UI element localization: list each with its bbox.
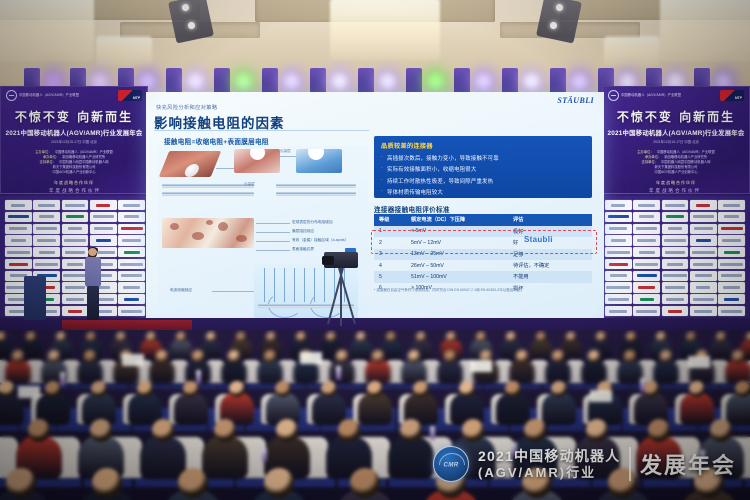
speaker-torso <box>85 257 101 287</box>
table-caption: 连接器接触电阻评价标准 <box>374 204 450 214</box>
audience-member <box>542 392 576 425</box>
audience-head <box>350 468 380 498</box>
audience-head <box>524 419 546 441</box>
sponsor-logo-tile <box>33 247 60 257</box>
sponsor-logo-tile <box>33 224 60 234</box>
diagram-label: 污染层 <box>280 149 291 154</box>
sponsor-logo-tile <box>690 224 717 234</box>
audience-head <box>716 332 727 342</box>
sponsor-logo-tile <box>605 224 632 234</box>
alliance-logo-text: 中国移动机器人（AGV/AMR）产业联盟 <box>621 94 681 98</box>
audience-head <box>586 419 608 441</box>
sponsor-logo-tile <box>718 271 745 281</box>
sponsor-logo-tile <box>690 306 717 316</box>
cell-voltage: 13mV – 25mV <box>406 249 508 260</box>
banner-title: 2021中国移动机器人(AGV/AMR)行业发展年会 <box>603 128 749 137</box>
sponsor-logo-tile <box>662 235 689 245</box>
sponsor-logo-tile <box>605 294 632 304</box>
audience-head <box>356 332 367 342</box>
sponsor-logo-tile <box>118 282 145 292</box>
sponsor-logo-wall-left <box>0 196 150 331</box>
bullet-marker: · <box>381 188 383 196</box>
water-bottle <box>262 448 267 462</box>
cell-grade: 2 <box>374 237 406 248</box>
audience-head <box>686 332 697 342</box>
audience-head <box>264 350 276 363</box>
col-header-voltage-drop: 额定电流（DC）下压降 <box>406 214 508 226</box>
audience-member <box>726 392 750 425</box>
audience-head <box>626 332 637 342</box>
sponsor-logo-tile <box>718 247 745 257</box>
sponsor-logo-tile <box>718 235 745 245</box>
audience-member <box>358 392 392 425</box>
bullet-marker: · <box>381 165 383 173</box>
audience-head <box>338 419 360 441</box>
video-camera <box>324 252 358 268</box>
sponsor-logo-tile <box>718 212 745 222</box>
info-bullet: 实际有效接触面积小，收缩电阻很大 <box>387 165 476 173</box>
sponsor-logo-tile <box>662 259 689 269</box>
sponsor-logo-tile <box>605 306 632 316</box>
slide-eyebrow: 快充风险分析和应对策略 <box>156 104 217 111</box>
sponsor-logo-tile <box>118 235 145 245</box>
diagram-label: 污染层 <box>244 182 255 187</box>
audience-head <box>84 350 96 363</box>
audience-head <box>536 332 547 342</box>
sponsor-logo-tile <box>633 212 660 222</box>
sponsor-logo-tile <box>605 271 632 281</box>
sponsor-logo-tile <box>5 212 32 222</box>
audience-member <box>312 392 346 425</box>
sponsor-logo-tile <box>605 247 632 257</box>
bullet-marker: · <box>381 177 383 185</box>
watermark-headline: 发展年会 <box>640 448 736 480</box>
alliance-logo-text: 中国移动机器人（AGV/AMR）产业联盟 <box>19 94 79 98</box>
sponsor-logo-tile <box>718 224 745 234</box>
cell-assessment: 足够 <box>508 249 592 260</box>
alliance-ring-icon <box>6 90 17 101</box>
sponsor-logo-tile <box>62 200 89 210</box>
contact-plate-illustration <box>159 151 222 177</box>
event-banner-left: 中国移动机器人（AGV/AMR）产业联盟 MTP 不惊不变 向新而生 2021中… <box>0 86 148 194</box>
audience-head <box>624 350 636 363</box>
cell-grade: 1 <box>374 226 406 237</box>
audience-head <box>90 419 112 441</box>
banner-date: 2021年12月15-17日 中国·北京 <box>1 139 147 144</box>
sponsor-logo-tile <box>633 200 660 210</box>
stage-step <box>62 320 192 330</box>
col-header-assessment: 评估 <box>508 214 592 226</box>
audience-head <box>400 419 422 441</box>
audience-head <box>746 332 750 342</box>
audience-head <box>176 332 187 342</box>
sponsor-wall-caption: 年度战略合作伙伴 <box>0 188 150 194</box>
table-row: 1 < 5mV 极好 <box>374 226 592 237</box>
audience-document <box>688 356 710 368</box>
audience-head <box>660 350 672 363</box>
audience-member <box>680 392 714 425</box>
sponsor-logo-tile <box>118 200 145 210</box>
table-row: 5 51mV – 100mV 不能用 <box>374 271 592 282</box>
audience-document <box>300 352 322 364</box>
audience-head <box>336 350 348 363</box>
cell-grade: 5 <box>374 271 406 282</box>
chandelier <box>660 0 750 62</box>
alliance-logo: 中国移动机器人（AGV/AMR）产业联盟 <box>608 90 681 101</box>
sponsor-logo-tile <box>662 306 689 316</box>
audience-head <box>56 332 67 342</box>
sponsor-logo-tile <box>690 235 717 245</box>
audience-head <box>28 419 50 441</box>
sponsor-logo-tile <box>90 212 117 222</box>
audience-head <box>206 332 217 342</box>
watermark-divider <box>629 447 631 481</box>
sponsor-logo-tile <box>5 200 32 210</box>
audience-head <box>92 468 122 498</box>
sponsor-logo-tile <box>690 259 717 269</box>
audience-head <box>506 332 517 342</box>
chandelier <box>604 36 660 66</box>
sponsor-logo-tile <box>5 235 32 245</box>
speaker-legs <box>87 286 99 320</box>
table-row: 4 26mV – 50mV 待评估，不确定 <box>374 260 592 271</box>
audience-head <box>156 350 168 363</box>
water-bottle <box>430 426 435 440</box>
bullet-marker: · <box>381 154 383 162</box>
audience-head <box>476 332 487 342</box>
sponsor-logo-tile <box>718 200 745 210</box>
audience-head <box>710 419 732 441</box>
audience-head <box>446 332 457 342</box>
mtp-logo: MTP <box>720 90 744 101</box>
sponsor-logo-tile <box>90 235 117 245</box>
watermark-lines: 2021中国移动机器人 (AGV/AMR)行业 <box>478 448 620 481</box>
audience-head <box>264 468 294 498</box>
alliance-ring-icon <box>608 90 619 101</box>
slide-title-rule <box>154 130 369 131</box>
alliance-logo: 中国移动机器人（AGV/AMR）产业联盟 <box>6 90 79 101</box>
col-header-grade: 等级 <box>374 214 406 226</box>
sponsor-logo-wall-right <box>600 196 750 331</box>
sponsor-logo-tile <box>62 235 89 245</box>
sponsor-logo-tile <box>690 294 717 304</box>
banner-title: 2021中国移动机器人(AGV/AMR)行业发展年会 <box>1 128 147 137</box>
cell-grade: 3 <box>374 249 406 260</box>
banner-calligraphy: 不惊不变 向新而生 <box>603 108 749 125</box>
sponsor-logo-tile <box>62 224 89 234</box>
event-watermark: CMR 2021中国移动机器人 (AGV/AMR)行业 发展年会 <box>433 446 736 482</box>
sponsor-logo-tile <box>118 306 145 316</box>
sponsor-logo-tile <box>690 282 717 292</box>
sponsor-logo-tile <box>690 271 717 281</box>
cell-voltage: 51mV – 100mV <box>406 271 508 282</box>
audience-head <box>326 332 337 342</box>
sponsor-logo-tile <box>633 247 660 257</box>
conference-photo: 中国移动机器人（AGV/AMR）产业联盟 MTP 不惊不变 向新而生 2021中… <box>0 0 750 500</box>
sponsor-logo-tile <box>5 247 32 257</box>
diagram-label: 表面接触边界 <box>292 247 314 252</box>
audience-member <box>496 392 530 425</box>
sponsor-logo-tile <box>633 282 660 292</box>
audience-head <box>416 332 427 342</box>
projection-screen: STÄUBLI 快充风险分析和应对策略 影响接触电阻的因素 接触电阻=收缩电阻+… <box>146 92 604 332</box>
info-bullet: 高插拔次数后，接触力变小，导致接触不可靠 <box>387 154 499 162</box>
cmr-badge-icon: CMR <box>433 446 469 482</box>
audience-document <box>122 354 144 366</box>
audience-document <box>18 386 40 398</box>
micrograph-surface <box>234 149 280 173</box>
watermark-line1: 2021中国移动机器人 <box>478 448 620 465</box>
contact-resistance-table: 等级 额定电流（DC）下压降 评估 1 < 5mV 极好 2 5mV – 12m… <box>374 214 592 294</box>
sponsor-logo-tile <box>605 212 632 222</box>
micrograph-aspots <box>162 218 254 248</box>
audience-head <box>386 332 397 342</box>
banner-sponsor-caption: 年度战略合作伙伴 <box>603 180 749 186</box>
audience-head <box>152 419 174 441</box>
banner-organizers: 主办单位：中国移动机器人（AGV/AMR）产业联盟 承办单位：新战略移动机器人产… <box>603 150 749 175</box>
audience-head <box>596 332 607 342</box>
banner-calligraphy: 不惊不变 向新而生 <box>1 108 147 125</box>
audience-head <box>26 332 37 342</box>
banner-sponsor-caption: 年度战略合作伙伴 <box>1 180 147 186</box>
event-banner-right: 中国移动机器人（AGV/AMR）产业联盟 MTP 不惊不变 向新而生 2021中… <box>602 86 750 194</box>
podium <box>24 276 46 320</box>
org-value: 中国AGV机器人产业创新中心 <box>52 170 95 175</box>
watermark-line2: (AGV/AMR)行业 <box>478 465 620 481</box>
info-box-heading: 品质较差的连接器 <box>381 141 585 150</box>
sponsor-logo-tile <box>633 271 660 281</box>
sponsor-logo-tile <box>605 282 632 292</box>
camera-lens-icon <box>322 256 334 265</box>
table-header-row: 等级 额定电流（DC）下压降 评估 <box>374 214 592 226</box>
audience-head <box>462 419 484 441</box>
sponsor-logo-tile <box>118 224 145 234</box>
sponsor-logo-tile <box>662 282 689 292</box>
audience-head <box>192 350 204 363</box>
water-bottle <box>336 366 341 380</box>
audience-head <box>648 419 670 441</box>
sponsor-logo-tile <box>633 235 660 245</box>
micrograph-film <box>296 149 342 173</box>
info-bullet: 持续工作时散热性极差，导致间隙严重发热 <box>387 177 493 185</box>
sponsor-logo-tile <box>605 259 632 269</box>
audience-head <box>214 419 236 441</box>
sponsor-logo-tile <box>690 212 717 222</box>
audience-head <box>236 332 247 342</box>
audience-head <box>588 350 600 363</box>
mtp-logo-text: MTP <box>133 96 140 100</box>
quality-info-box: 品质较差的连接器 ·高插拔次数后，接触力变小，导致接触不可靠 ·实际有效接触面积… <box>374 136 592 198</box>
sponsor-logo-tile <box>118 294 145 304</box>
info-bullet: 导体材质传输电阻较大 <box>387 188 443 196</box>
audience-head <box>146 332 157 342</box>
chandelier <box>96 36 152 66</box>
sponsor-logo-tile <box>118 259 145 269</box>
sponsor-logo-tile <box>718 294 745 304</box>
sponsor-logo-tile <box>718 282 745 292</box>
water-bottle <box>196 370 201 384</box>
sponsor-logo-tile <box>118 271 145 281</box>
sponsor-wall-caption: 年度战略合作伙伴 <box>600 188 750 194</box>
audience-head <box>372 350 384 363</box>
diagram-label: 膜层阻挡效应 <box>292 229 314 234</box>
sponsor-logo-tile <box>633 259 660 269</box>
sponsor-logo-tile <box>662 224 689 234</box>
diagram-label: 宏观表层的分布电阻增加 <box>292 220 333 225</box>
audience-head <box>178 468 208 498</box>
sponsor-logo-tile <box>90 224 117 234</box>
mtp-logo: MTP <box>118 90 142 101</box>
cell-voltage: 5mV – 12mV <box>406 237 508 248</box>
cell-assessment: 待评估，不确定 <box>508 260 592 271</box>
audience-head <box>266 332 277 342</box>
cell-voltage: 26mV – 50mV <box>406 260 508 271</box>
sponsor-logo-tile <box>605 235 632 245</box>
org-value: 中国AGV机器人产业创新中心 <box>654 170 697 175</box>
audience-document <box>470 360 492 372</box>
audience-member <box>174 392 208 425</box>
audience-head <box>552 350 564 363</box>
water-bottle <box>640 378 645 392</box>
sponsor-logo-tile <box>62 212 89 222</box>
sponsor-logo-tile <box>33 259 60 269</box>
diagram-label: 电流收缩效应 <box>170 288 192 293</box>
cell-voltage: < 5mV <box>406 226 508 237</box>
slide-title: 影响接触电阻的因素 <box>154 112 285 132</box>
audience-head <box>276 419 298 441</box>
audience-head <box>228 350 240 363</box>
sponsor-logo-tile <box>605 200 632 210</box>
audience-head <box>6 468 36 498</box>
sponsor-logo-tile <box>5 224 32 234</box>
sponsor-logo-tile <box>690 247 717 257</box>
sponsor-logo-tile <box>633 294 660 304</box>
sponsor-logo-tile <box>33 212 60 222</box>
cell-assessment: 不能用 <box>508 271 592 282</box>
sponsor-logo-tile <box>118 247 145 257</box>
sponsor-logo-tile <box>662 200 689 210</box>
sponsor-logo-tile <box>662 212 689 222</box>
badge-text: CMR <box>444 461 459 468</box>
audience-document <box>590 390 612 402</box>
cell-grade: 4 <box>374 260 406 271</box>
sponsor-logo-tile <box>5 259 32 269</box>
audience-head <box>116 332 127 342</box>
banner-date: 2021年12月15-17日 中国·北京 <box>603 139 749 144</box>
staubli-annotation: Staubli <box>524 235 553 244</box>
sponsor-logo-tile <box>33 200 60 210</box>
audience-head <box>12 350 24 363</box>
speaker-presenter <box>84 248 102 322</box>
mtp-logo-text: MTP <box>735 96 742 100</box>
audience-head <box>86 332 97 342</box>
banner-organizers: 主办单位：中国移动机器人（AGV/AMR）产业联盟 承办单位：新战略移动机器人产… <box>1 150 147 175</box>
audience-head <box>516 350 528 363</box>
audience-head <box>735 381 750 398</box>
sponsor-logo-tile <box>33 235 60 245</box>
table-row: 2 5mV – 12mV 好 <box>374 237 592 248</box>
table-footnote: * 连接器在自由空气条件下参照标准，同时符合 DIN EN 60947-7-1和… <box>374 288 590 293</box>
sponsor-logo-tile <box>90 200 117 210</box>
slide-section-title: 接触电阻=收缩电阻+表面膜层电阻 <box>164 136 269 146</box>
audience-head <box>408 350 420 363</box>
diagram-label: 有效（金属）接触区域（a-spots） <box>292 238 348 243</box>
chandelier <box>330 0 440 60</box>
sponsor-logo-tile <box>690 200 717 210</box>
table-row: 3 13mV – 25mV 足够 <box>374 249 592 260</box>
sponsor-logo-tile <box>633 306 660 316</box>
sponsor-logo-tile <box>718 259 745 269</box>
sponsor-logo-tile <box>633 224 660 234</box>
sponsor-logo-tile <box>662 247 689 257</box>
audience-head <box>732 350 744 363</box>
audience-head <box>566 332 577 342</box>
sponsor-logo-tile <box>662 294 689 304</box>
audience-head <box>656 332 667 342</box>
sponsor-logo-tile <box>662 271 689 281</box>
water-bottle <box>60 372 65 386</box>
chandelier <box>0 0 94 62</box>
sponsor-logo-tile <box>118 212 145 222</box>
sponsor-logo-tile <box>718 306 745 316</box>
audience-head <box>48 350 60 363</box>
video-camera-tripod <box>318 252 364 326</box>
audience-head <box>296 332 307 342</box>
audience-head <box>444 350 456 363</box>
staubli-logo: STÄUBLI <box>557 96 594 105</box>
